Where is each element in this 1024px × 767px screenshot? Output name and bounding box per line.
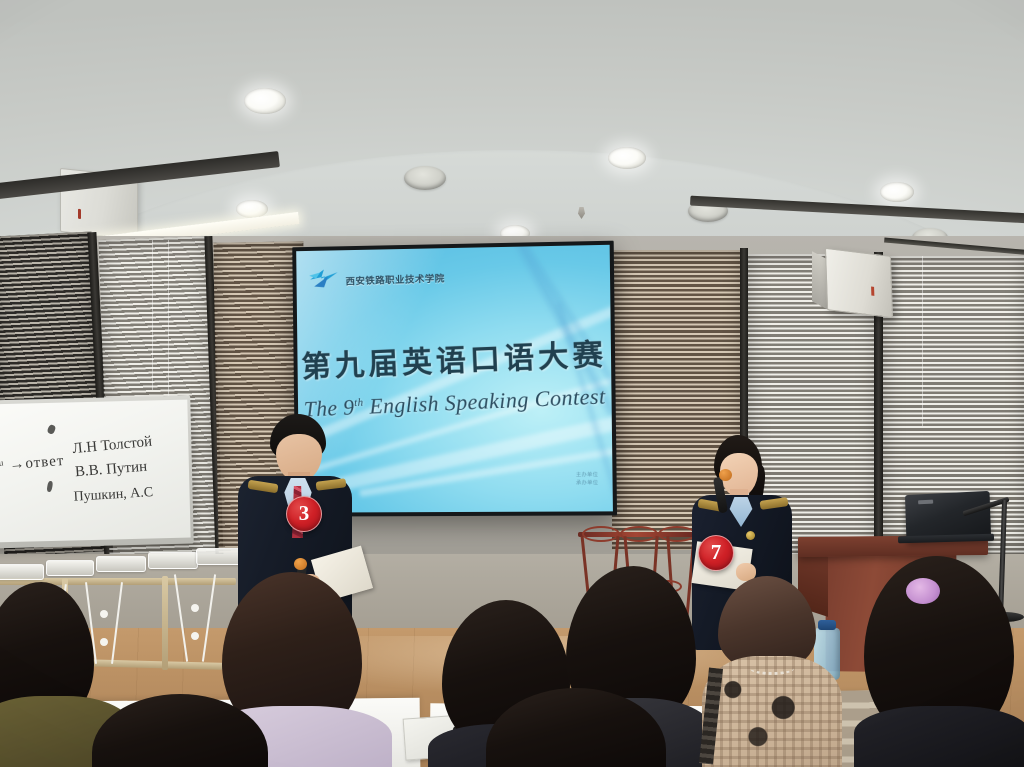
photo-scene: 西安铁路职业技术学院 第九届英语口语大赛 The 9th English Spe… bbox=[0, 0, 1024, 767]
whiteboard-line-3: Пушкин, А.С bbox=[73, 485, 153, 506]
school-logo-icon bbox=[308, 266, 342, 292]
audience-member bbox=[92, 694, 268, 767]
smoke-detector-icon bbox=[404, 166, 446, 190]
whiteboard: ᵘ →ответ Л.Н Толстой В.В. Путин Пушкин, … bbox=[0, 400, 191, 543]
status-led-icon bbox=[78, 209, 81, 219]
tray bbox=[96, 556, 146, 572]
hair bbox=[92, 694, 268, 767]
slide-footnote-line-2: 承办单位 bbox=[576, 479, 598, 487]
audience-member bbox=[486, 688, 666, 767]
slide-title-en-ordinal: th bbox=[354, 397, 364, 409]
stand-leg bbox=[174, 574, 188, 661]
tray bbox=[0, 564, 44, 580]
whiteboard-line-2: В.В. Путин bbox=[74, 459, 147, 481]
school-name-text: 西安铁路职业技术学院 bbox=[345, 270, 444, 287]
rack-upright bbox=[162, 576, 168, 670]
hair bbox=[486, 688, 666, 767]
downlight-icon bbox=[880, 182, 914, 202]
downlight-icon bbox=[608, 147, 646, 169]
audience-member bbox=[708, 576, 836, 767]
slide-title-en-rest: English Speaking Contest bbox=[363, 383, 606, 419]
uniform-pin-icon bbox=[746, 531, 755, 540]
status-led-icon bbox=[871, 286, 874, 295]
stand-knot bbox=[191, 604, 199, 612]
stand-knot bbox=[191, 632, 199, 640]
slide-footnote: 主办单位 承办单位 bbox=[576, 471, 598, 487]
blind-cord bbox=[152, 240, 153, 390]
slide-title-chinese: 第九届英语口语大赛 bbox=[297, 329, 612, 386]
necklace bbox=[750, 662, 794, 675]
top bbox=[854, 706, 1024, 767]
microphone-head-icon bbox=[294, 558, 307, 570]
ceiling-mounted-speaker bbox=[825, 248, 893, 318]
whiteboard-line-1: Л.Н Толстой bbox=[72, 434, 153, 458]
audience-member bbox=[856, 556, 1024, 767]
blind-cord bbox=[922, 256, 923, 426]
laptop-logo-icon bbox=[918, 500, 933, 505]
hair-clip-icon bbox=[906, 578, 940, 604]
contestant-number-badge: 3 bbox=[286, 496, 322, 532]
slide-footnote-line-1: 主办单位 bbox=[576, 471, 598, 479]
downlight-icon bbox=[244, 88, 286, 114]
plant-stand-ring bbox=[582, 526, 620, 542]
whiteboard-line-arrow: ᵘ →ответ bbox=[0, 453, 65, 475]
ceiling bbox=[0, 0, 1024, 260]
microphone-head-icon bbox=[719, 469, 732, 481]
tray bbox=[148, 552, 198, 569]
tray bbox=[46, 560, 94, 576]
whiteboard-frame: ᵘ →ответ Л.Н Толстой В.В. Путин Пушкин, … bbox=[0, 396, 194, 549]
